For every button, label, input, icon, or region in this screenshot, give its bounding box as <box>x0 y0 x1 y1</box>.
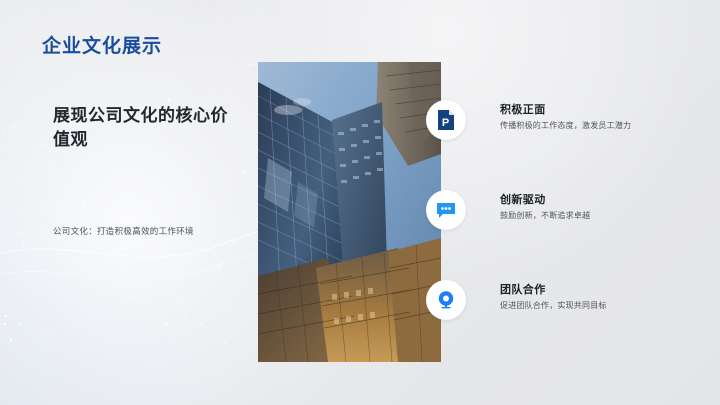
hero-photo <box>258 62 441 362</box>
slide-canvas: 企业文化展示 展现公司文化的核心价值观 公司文化：打造积极高效的工作环境 <box>0 0 720 405</box>
feature-item-teamwork[interactable]: 团队合作 促进团队合作，实现共同目标 <box>424 280 704 334</box>
subcaption-text: 公司文化：打造积极高效的工作环境 <box>53 225 253 238</box>
svg-text:P: P <box>442 117 449 129</box>
feature-item-positive[interactable]: P 积极正面 传播积极的工作态度，激发员工潜力 <box>424 100 704 154</box>
ring-target-icon <box>426 280 466 320</box>
feature-title: 团队合作 <box>500 281 546 297</box>
feature-item-innovation[interactable]: 创新驱动 鼓励创新，不断追求卓越 <box>424 190 704 244</box>
chat-bubble-icon <box>426 190 466 230</box>
feature-description: 促进团队合作，实现共同目标 <box>500 300 607 311</box>
document-p-icon: P <box>426 100 466 140</box>
headline-text: 展现公司文化的核心价值观 <box>53 104 243 152</box>
feature-title: 创新驱动 <box>500 191 546 207</box>
page-title: 企业文化展示 <box>42 31 162 58</box>
feature-description: 传播积极的工作态度，激发员工潜力 <box>500 120 631 131</box>
feature-list: P 积极正面 传播积极的工作态度，激发员工潜力 创新驱动 鼓励创新，不断追求卓越 <box>424 62 704 362</box>
feature-description: 鼓励创新，不断追求卓越 <box>500 210 590 221</box>
feature-title: 积极正面 <box>500 101 546 117</box>
